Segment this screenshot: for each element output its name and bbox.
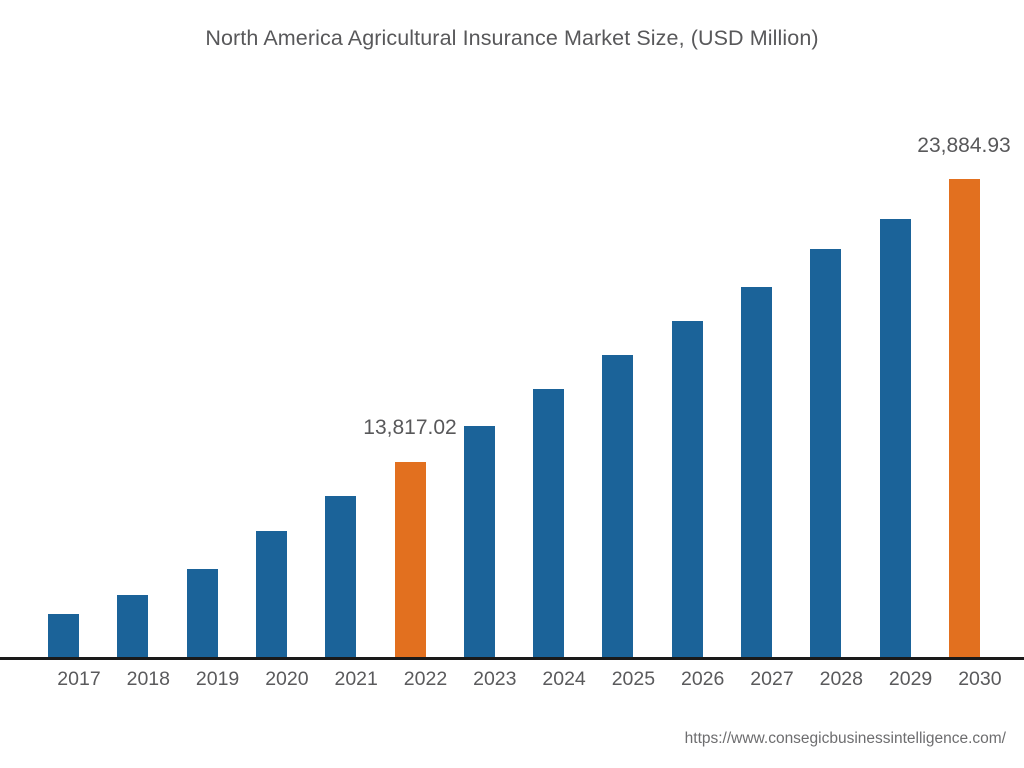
x-label-2026: 2026 <box>663 668 743 691</box>
bar-2017[interactable] <box>48 614 79 657</box>
x-label-2018: 2018 <box>108 668 188 691</box>
data-label-2022: 13,817.02 <box>330 416 490 440</box>
bar-2021[interactable] <box>325 496 356 657</box>
source-url-text: https://www.consegicbusinessintelligence… <box>685 730 1006 748</box>
x-label-2029: 2029 <box>871 668 951 691</box>
x-label-2019: 2019 <box>178 668 258 691</box>
bar-2020[interactable] <box>256 531 287 657</box>
x-label-2020: 2020 <box>247 668 327 691</box>
x-label-2027: 2027 <box>732 668 812 691</box>
bar-2027[interactable] <box>741 287 772 657</box>
bar-2023[interactable] <box>464 426 495 657</box>
bar-2022[interactable] <box>395 462 426 657</box>
bar-2028[interactable] <box>810 249 841 657</box>
bar-2024[interactable] <box>533 389 564 657</box>
x-axis-tick-labels: 2017201820192020202120222023202420252026… <box>0 668 1024 702</box>
x-label-2025: 2025 <box>593 668 673 691</box>
x-label-2022: 2022 <box>386 668 466 691</box>
data-label-2030: 23,884.93 <box>884 134 1024 158</box>
x-label-2024: 2024 <box>524 668 604 691</box>
x-axis-line <box>0 657 1024 660</box>
bar-2026[interactable] <box>672 321 703 657</box>
bar-2025[interactable] <box>602 355 633 657</box>
x-label-2030: 2030 <box>940 668 1020 691</box>
x-label-2021: 2021 <box>316 668 396 691</box>
bar-2019[interactable] <box>187 569 218 657</box>
x-label-2017: 2017 <box>39 668 119 691</box>
bar-2029[interactable] <box>880 219 911 657</box>
bar-2018[interactable] <box>117 595 148 657</box>
x-label-2028: 2028 <box>801 668 881 691</box>
plot-area <box>0 0 1024 660</box>
bar-2030[interactable] <box>949 179 980 657</box>
chart-figure: North America Agricultural Insurance Mar… <box>0 0 1024 768</box>
x-label-2023: 2023 <box>455 668 535 691</box>
